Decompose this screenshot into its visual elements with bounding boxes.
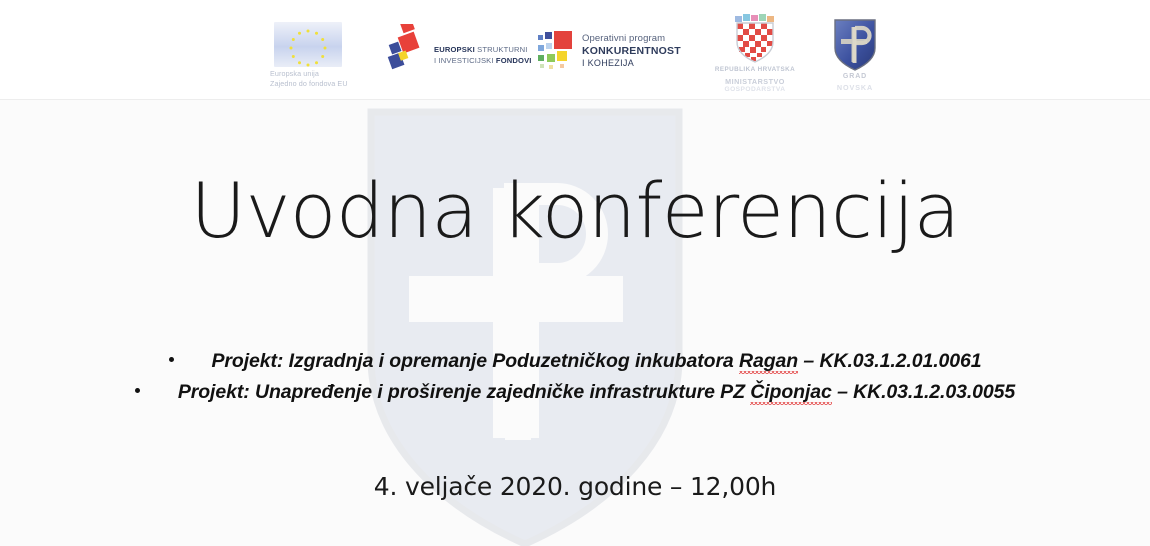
- op-line-3: I KOHEZIJA: [582, 57, 694, 69]
- gn-caption-2: NOVSKA: [812, 83, 898, 92]
- logo-esi-funds: EUROPSKI STRUKTURNI I INVESTICIJSKI FOND…: [372, 0, 522, 100]
- page-title: Uvodna konferencija: [0, 168, 1150, 254]
- bullet-text-post: – KK.03.1.2.01.0061: [798, 350, 981, 372]
- bullet-text-pre: Projekt: Unapređenje i proširenje zajedn…: [178, 381, 750, 403]
- eu-flag-icon: [274, 22, 342, 67]
- project-bullet-list: Projekt: Izgradnja i opremanje Poduzetni…: [0, 346, 1150, 408]
- mosaic-squares-icon: [538, 29, 578, 69]
- logo-republika-hrvatska: REPUBLIKA HRVATSKA MINISTARSTVO GOSPODAR…: [700, 0, 810, 100]
- bullet-text: Projekt: Izgradnja i opremanje Poduzetni…: [212, 346, 982, 377]
- list-item: Projekt: Unapređenje i proširenje zajedn…: [0, 377, 1150, 408]
- bullet-text-pre: Projekt: Izgradnja i opremanje Poduzetni…: [212, 350, 740, 372]
- op-line-2: KONKURENTNOST: [582, 45, 694, 57]
- eu-caption-line-1: Europska unija: [270, 69, 380, 79]
- operativni-program-text: Operativni program KONKURENTNOST I KOHEZ…: [582, 33, 694, 69]
- logo-operativni-program: Operativni program KONKURENTNOST I KOHEZ…: [536, 0, 696, 100]
- eu-caption-line-2: Zajedno do fondova EU: [270, 79, 380, 89]
- esi-line-2: I INVESTICIJSKI FONDOVI: [434, 56, 526, 67]
- event-datetime: 4. veljače 2020. godine – 12,00h: [0, 470, 1150, 504]
- logo-grad-novska: GRAD NOVSKA: [812, 0, 898, 100]
- partner-logo-strip: Europska unija Zajedno do fondova EU: [0, 0, 1150, 100]
- bullet-text-post: – KK.03.1.2.03.0055: [832, 381, 1015, 403]
- grad-novska-shield-icon: [833, 18, 877, 72]
- logo-eu-flag: Europska unija Zajedno do fondova EU: [262, 0, 382, 100]
- bullet-text: Projekt: Unapređenje i proširenje zajedn…: [178, 377, 1015, 408]
- rh-caption-1: REPUBLIKA HRVATSKA: [700, 66, 810, 73]
- op-line-1: Operativni program: [582, 33, 694, 45]
- list-item: Projekt: Izgradnja i opremanje Poduzetni…: [0, 346, 1150, 377]
- spellcheck-flagged-word: Čiponjac: [750, 381, 832, 405]
- eu-flag-caption: Europska unija Zajedno do fondova EU: [270, 69, 380, 88]
- esi-line-1: EUROPSKI STRUKTURNI: [434, 45, 526, 56]
- esi-funds-text: EUROPSKI STRUKTURNI I INVESTICIJSKI FOND…: [434, 45, 526, 66]
- rh-caption-2: MINISTARSTVO: [700, 77, 810, 86]
- bullet-dot-icon: [135, 388, 140, 393]
- bullet-dot-icon: [169, 357, 174, 362]
- gn-caption-1: GRAD: [812, 73, 898, 80]
- croatian-coat-of-arms-icon: [732, 14, 778, 64]
- rh-caption-3: GOSPODARSTVA: [700, 86, 810, 93]
- presentation-slide: Europska unija Zajedno do fondova EU: [0, 0, 1150, 546]
- spellcheck-flagged-word: Ragan: [739, 350, 798, 374]
- esi-funds-icon: [374, 24, 434, 74]
